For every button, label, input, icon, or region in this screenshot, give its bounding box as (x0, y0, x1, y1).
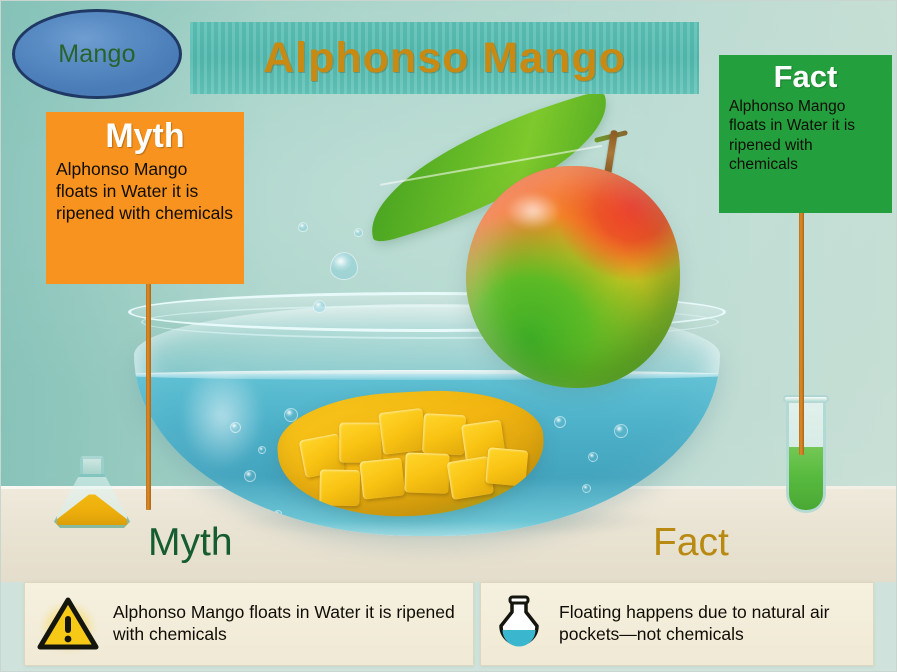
bowl-highlight (174, 364, 294, 514)
flask-neck (80, 456, 104, 476)
mango-highlight (494, 184, 572, 238)
water-droplet (298, 222, 308, 232)
mango-myth-fact-infographic: Mango Alphonso Mango Myth Alphonso Mango… (0, 0, 897, 672)
flask-icon (493, 595, 545, 653)
myth-sign-heading: Myth (56, 119, 234, 155)
test-tube-lip (783, 395, 829, 403)
mango-badge[interactable]: Mango (12, 9, 182, 99)
test-tube (786, 395, 826, 513)
title-banner: Alphonso Mango (190, 22, 699, 94)
mango-cube (339, 423, 381, 463)
water-droplet (330, 252, 358, 280)
myth-sign-post (146, 282, 151, 510)
whole-mango-fruit (466, 166, 680, 388)
myth-sign-body: Alphonso Mango floats in Water it is rip… (56, 158, 234, 224)
bubble (554, 416, 566, 428)
bubble (588, 452, 598, 462)
mango-badge-label: Mango (58, 40, 135, 69)
flask-outline (54, 474, 130, 528)
bubble (582, 484, 591, 493)
bottom-panel-fact[interactable]: Floating happens due to natural air pock… (480, 582, 874, 666)
bubble (274, 510, 282, 518)
mango-cube (485, 447, 528, 486)
fact-sign-heading: Fact (729, 61, 882, 94)
fact-sign-card[interactable]: Fact Alphonso Mango floats in Water it i… (719, 55, 892, 213)
mango-cube (404, 452, 449, 494)
section-heading-fact: Fact (653, 521, 729, 565)
bottom-panel-fact-text: Floating happens due to natural air pock… (559, 602, 861, 646)
test-tube-green-liquid (789, 447, 823, 510)
bubble (614, 424, 628, 438)
conical-flask-icon (52, 456, 132, 528)
section-heading-myth: Myth (148, 521, 233, 565)
fact-sign-body: Alphonso Mango floats in Water it is rip… (729, 97, 882, 175)
bottom-panel-myth[interactable]: Alphonso Mango floats in Water it is rip… (24, 582, 474, 666)
fact-sign-post (799, 211, 804, 455)
mango-cube (422, 413, 466, 455)
bottom-panel-myth-text: Alphonso Mango floats in Water it is rip… (113, 602, 461, 646)
warning-triangle-icon (37, 596, 99, 652)
water-droplet (354, 228, 363, 237)
mango-cube (319, 469, 360, 506)
mango-cube (359, 457, 405, 499)
page-title: Alphonso Mango (263, 34, 626, 83)
water-droplet (313, 300, 326, 313)
myth-sign-card[interactable]: Myth Alphonso Mango floats in Water it i… (46, 112, 244, 284)
mango-cube (378, 408, 427, 455)
